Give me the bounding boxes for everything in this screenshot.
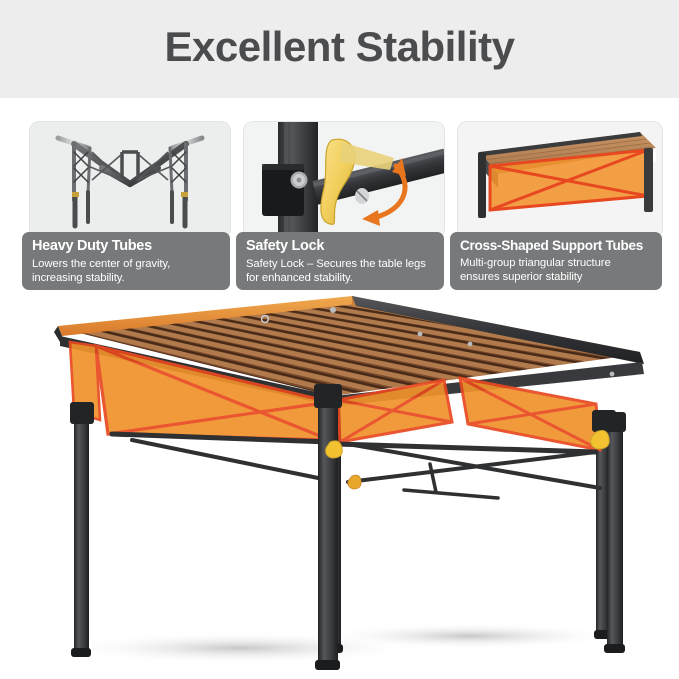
safety-lock-image	[244, 122, 444, 238]
card-title: Safety Lock	[246, 238, 434, 255]
table-leg-front-center	[315, 392, 340, 670]
product-photo	[0, 292, 679, 679]
card-description: Lowers the center of gravity, increasing…	[32, 257, 220, 285]
cross-support-image	[458, 122, 662, 238]
card-title: Heavy Duty Tubes	[32, 238, 220, 255]
heavy-duty-tubes-caption: Heavy Duty Tubes Lowers the center of gr…	[22, 232, 230, 290]
feature-card-heavy-duty-tubes: Heavy Duty Tubes Lowers the center of gr…	[22, 110, 230, 290]
card-title: Cross-Shaped Support Tubes	[460, 238, 652, 254]
infographic-page: Excellent Stability	[0, 0, 679, 679]
cross-brace-icon	[458, 122, 662, 238]
folding-table-illustration	[0, 292, 679, 679]
feature-card-safety-lock: Safety Lock Safety Lock – Secures the ta…	[236, 110, 444, 290]
feature-card-cross-shaped-support-tubes: Cross-Shaped Support Tubes Multi-group t…	[450, 110, 662, 290]
cross-support-caption: Cross-Shaped Support Tubes Multi-group t…	[450, 232, 662, 290]
header-band: Excellent Stability	[0, 0, 679, 98]
heavy-duty-tubes-image	[30, 122, 230, 238]
table-leg-front-left	[71, 410, 91, 657]
feature-card-row: Heavy Duty Tubes Lowers the center of gr…	[0, 110, 679, 292]
card-description: Multi-group triangular structure ensures…	[460, 256, 652, 284]
safety-lock-caption: Safety Lock Safety Lock – Secures the ta…	[236, 232, 444, 290]
table-leg-front-right	[604, 420, 625, 653]
folding-frame-icon	[30, 122, 230, 238]
card-description: Safety Lock – Secures the table legs for…	[246, 257, 434, 285]
safety-lock-lever-icon	[244, 122, 444, 238]
page-title: Excellent Stability	[165, 26, 515, 72]
